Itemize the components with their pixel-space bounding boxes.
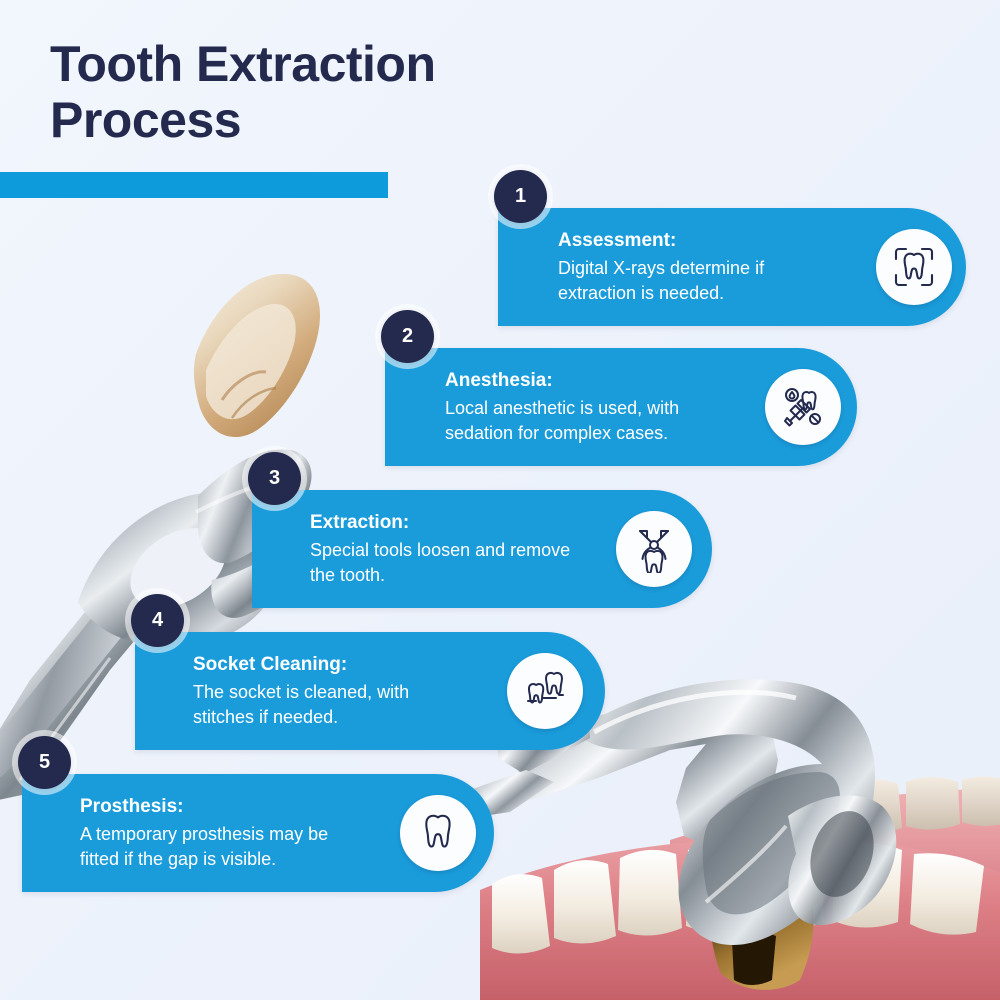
two-teeth-icon	[507, 653, 583, 729]
step-4-body-line2: stitches if needed.	[193, 705, 409, 731]
step-5-card[interactable]: Prosthesis: A temporary prosthesis may b…	[22, 774, 494, 892]
step-4-card[interactable]: Socket Cleaning: The socket is cleaned, …	[135, 632, 605, 750]
step-4-heading: Socket Cleaning:	[193, 651, 409, 680]
step-1-text: Assessment: Digital X-rays determine if …	[558, 227, 764, 307]
step-2-number-badge: 2	[381, 310, 434, 363]
page-title: Tooth Extraction Process	[50, 36, 670, 148]
step-3-text: Extraction: Special tools loosen and rem…	[310, 509, 570, 589]
step-4-number-badge: 4	[131, 594, 184, 647]
step-4-body-line1: The socket is cleaned, with	[193, 680, 409, 706]
step-5-heading: Prosthesis:	[80, 793, 328, 822]
step-4-text: Socket Cleaning: The socket is cleaned, …	[193, 651, 409, 731]
tooth-scan-icon	[876, 229, 952, 305]
step-5-number-badge: 5	[18, 736, 71, 789]
step-1-number-badge: 1	[494, 170, 547, 223]
step-1-heading: Assessment:	[558, 227, 764, 256]
step-5-text: Prosthesis: A temporary prosthesis may b…	[80, 793, 328, 873]
step-1-body-line2: extraction is needed.	[558, 281, 764, 307]
step-3-body-line1: Special tools loosen and remove	[310, 538, 570, 564]
step-3-heading: Extraction:	[310, 509, 570, 538]
step-2-body-line1: Local anesthetic is used, with	[445, 396, 679, 422]
tooth-icon	[400, 795, 476, 871]
syringe-tooth-icon	[765, 369, 841, 445]
page-title-line2: Process	[50, 92, 241, 148]
step-1-card[interactable]: Assessment: Digital X-rays determine if …	[498, 208, 966, 326]
step-2-body-line2: sedation for complex cases.	[445, 421, 679, 447]
step-2-heading: Anesthesia:	[445, 367, 679, 396]
page-title-line1: Tooth Extraction	[50, 36, 436, 92]
infographic-canvas: Tooth Extraction Process	[0, 0, 1000, 1000]
title-underline-bar	[0, 172, 388, 198]
step-3-body-line2: the tooth.	[310, 563, 570, 589]
step-2-text: Anesthesia: Local anesthetic is used, wi…	[445, 367, 679, 447]
forceps-tooth-icon	[616, 511, 692, 587]
step-5-body-line2: fitted if the gap is visible.	[80, 847, 328, 873]
step-1-body-line1: Digital X-rays determine if	[558, 256, 764, 282]
step-3-card[interactable]: Extraction: Special tools loosen and rem…	[252, 490, 712, 608]
step-2-card[interactable]: Anesthesia: Local anesthetic is used, wi…	[385, 348, 857, 466]
step-3-number-badge: 3	[248, 452, 301, 505]
step-5-body-line1: A temporary prosthesis may be	[80, 822, 328, 848]
